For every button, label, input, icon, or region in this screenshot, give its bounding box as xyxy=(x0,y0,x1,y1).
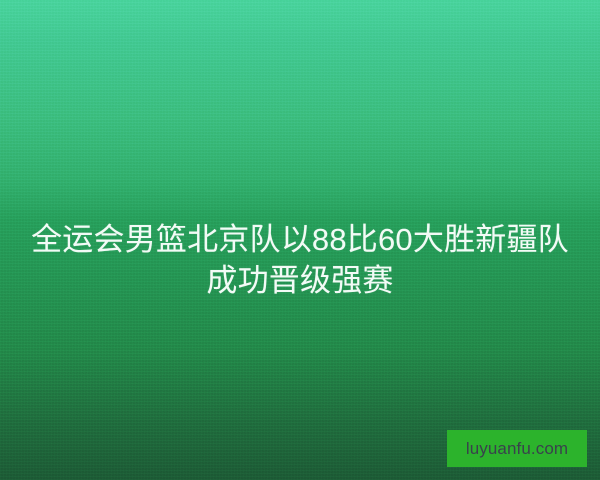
watermark-badge: luyuanfu.com xyxy=(447,430,587,467)
page-title: 全运会男篮北京队以88比60大胜新疆队成功晋级强赛 xyxy=(0,219,600,301)
article-banner: 全运会男篮北京队以88比60大胜新疆队成功晋级强赛 luyuanfu.com xyxy=(0,0,600,480)
watermark-label: luyuanfu.com xyxy=(466,440,568,457)
